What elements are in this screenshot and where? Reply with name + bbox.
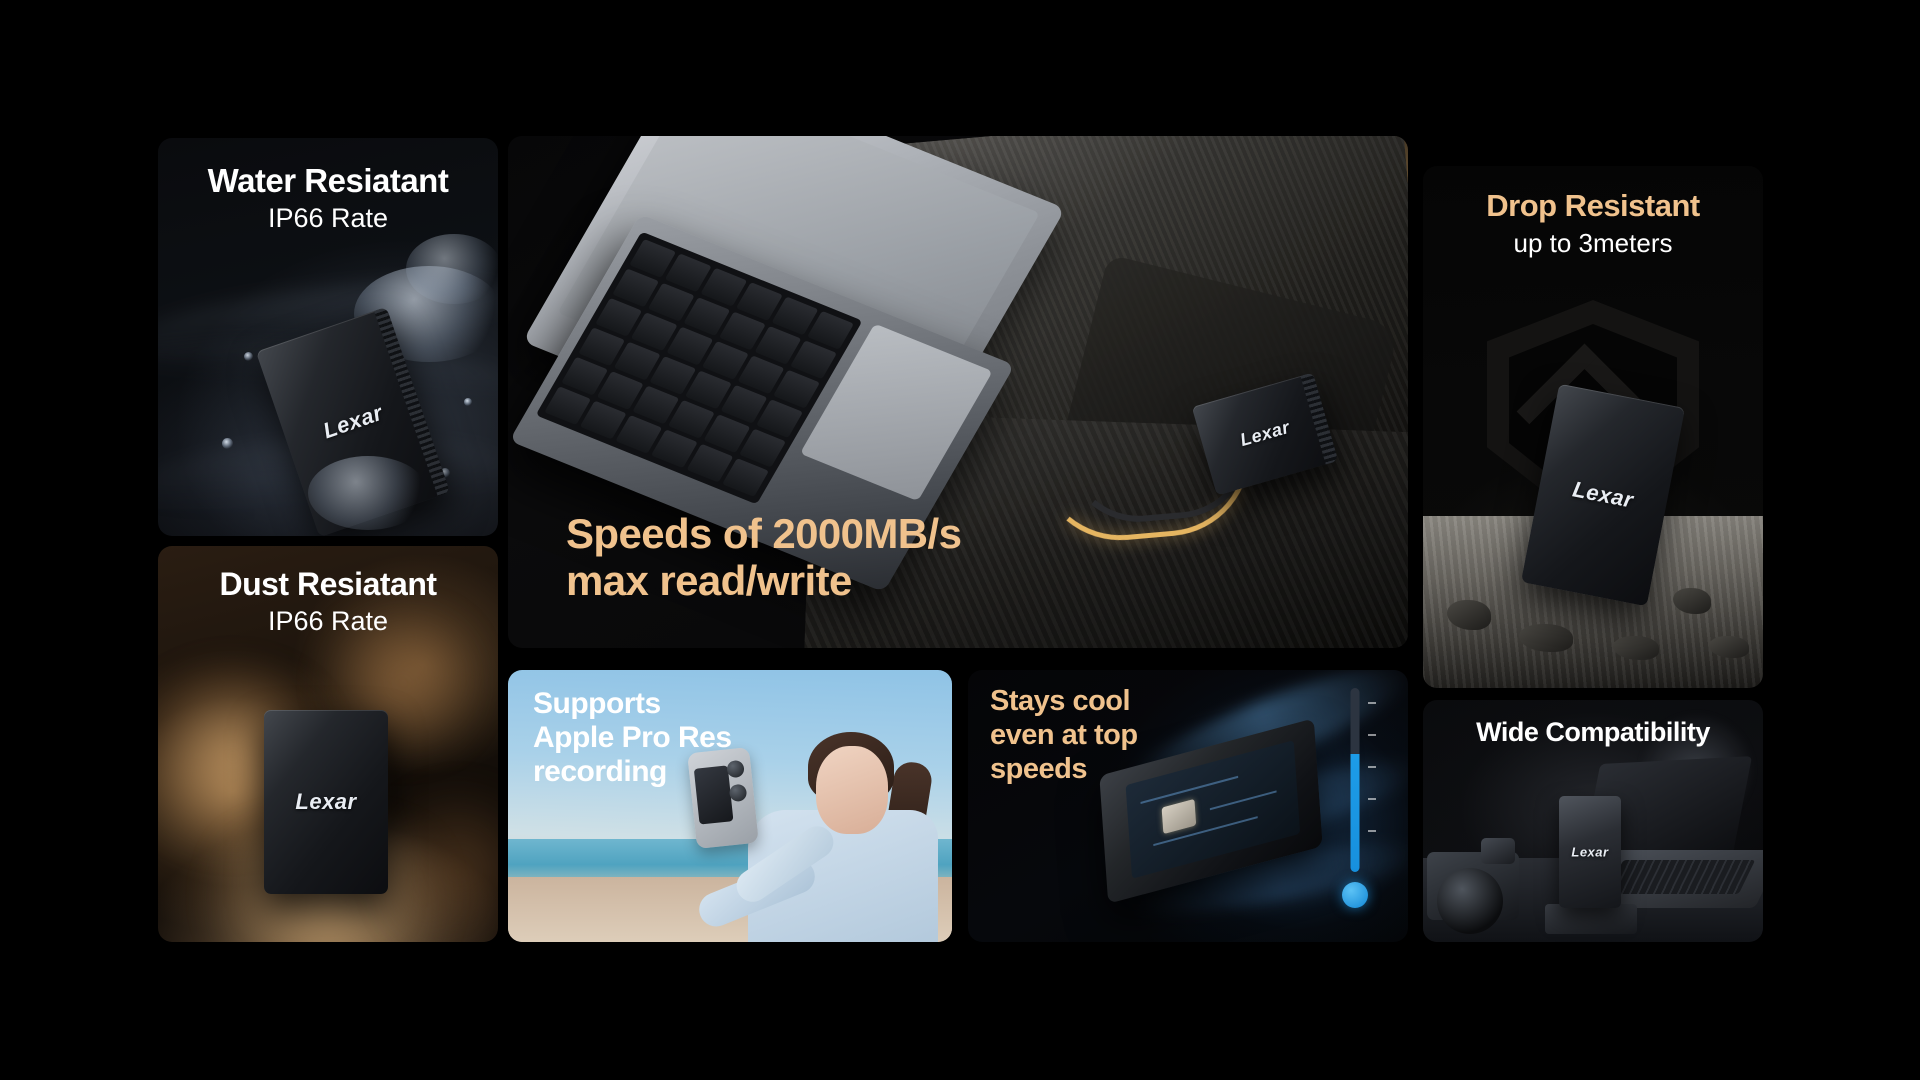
pcb-trace — [1209, 790, 1276, 810]
ssd-controller-chip — [1161, 799, 1196, 834]
card-water-resistant[interactable]: Lexar Water Resiatant IP66 Rate — [158, 138, 498, 536]
thermometer-icon — [1342, 688, 1368, 912]
feature-grid-page: Lexar Water Resiatant IP66 Rate Lexar Du… — [0, 0, 1920, 1080]
card-water-text: Water Resiatant IP66 Rate — [158, 164, 498, 233]
lexar-logo: Lexar — [1202, 407, 1329, 462]
camera-viewfinder — [1481, 838, 1515, 864]
laptop-keyboard — [1607, 860, 1756, 894]
person-head — [816, 746, 888, 834]
card-dust-text: Dust Resiatant IP66 Rate — [158, 568, 498, 636]
camera-lens-icon — [1437, 868, 1503, 934]
card-prores-line2: Apple Pro Res — [533, 721, 732, 755]
card-cool-line2: even at top — [990, 718, 1138, 752]
thermometer-tick — [1368, 766, 1376, 768]
card-compat-title: Wide Compatibility — [1423, 718, 1763, 746]
thermometer-tick — [1368, 734, 1376, 736]
card-hero-speed[interactable]: Lexar Speeds of 2000MB/s max read/write — [508, 136, 1408, 648]
water-splash — [406, 234, 498, 304]
card-prores-text: Supports Apple Pro Res recording — [533, 687, 732, 789]
card-drop-resistant[interactable]: Lexar Drop Resistant up to 3meters — [1423, 166, 1763, 688]
card-cool-line1: Stays cool — [990, 684, 1138, 718]
lexar-logo: Lexar — [264, 789, 388, 815]
card-compat-text: Wide Compatibility — [1423, 718, 1763, 746]
card-water-title: Water Resiatant — [158, 164, 498, 199]
hero-speed-line2: max read/write — [566, 557, 961, 604]
card-apple-pro-res[interactable]: Supports Apple Pro Res recording — [508, 670, 952, 942]
card-dust-title: Dust Resiatant — [158, 568, 498, 602]
lexar-logo: Lexar — [284, 387, 423, 457]
water-droplet — [464, 398, 472, 406]
lexar-logo: Lexar — [1559, 845, 1621, 860]
ssd-stand — [1545, 904, 1637, 934]
lexar-logo: Lexar — [1538, 470, 1669, 520]
card-dust-resistant[interactable]: Lexar Dust Resiatant IP66 Rate — [158, 546, 498, 942]
card-dust-subtitle: IP66 Rate — [158, 607, 498, 637]
thermometer-tick — [1368, 830, 1376, 832]
card-prores-line3: recording — [533, 755, 732, 789]
card-prores-line1: Supports — [533, 687, 732, 721]
water-droplet — [222, 438, 233, 449]
card-cool-line3: speeds — [990, 752, 1138, 786]
hero-caption: Speeds of 2000MB/s max read/write — [566, 510, 961, 604]
water-splash — [308, 456, 428, 530]
card-cool-text: Stays cool even at top speeds — [990, 684, 1138, 787]
hero-speed-line1: Speeds of 2000MB/s — [566, 510, 961, 557]
product-ssd-compat: Lexar — [1559, 796, 1621, 908]
dust-cloud — [378, 776, 498, 942]
card-wide-compatibility[interactable]: Lexar Wide Compatibility — [1423, 700, 1763, 942]
ssd-circuit-board — [1126, 740, 1301, 879]
thermometer-tick — [1368, 798, 1376, 800]
card-drop-text: Drop Resistant up to 3meters — [1423, 190, 1763, 257]
card-stays-cool[interactable]: Stays cool even at top speeds — [968, 670, 1408, 942]
water-droplet — [244, 352, 253, 361]
card-drop-title: Drop Resistant — [1423, 190, 1763, 223]
thermometer-stem — [1351, 688, 1360, 872]
product-ssd-dust: Lexar — [264, 710, 388, 894]
thermometer-tick — [1368, 702, 1376, 704]
card-drop-subtitle: up to 3meters — [1423, 229, 1763, 258]
thermometer-bulb — [1342, 882, 1368, 908]
card-water-subtitle: IP66 Rate — [158, 204, 498, 234]
